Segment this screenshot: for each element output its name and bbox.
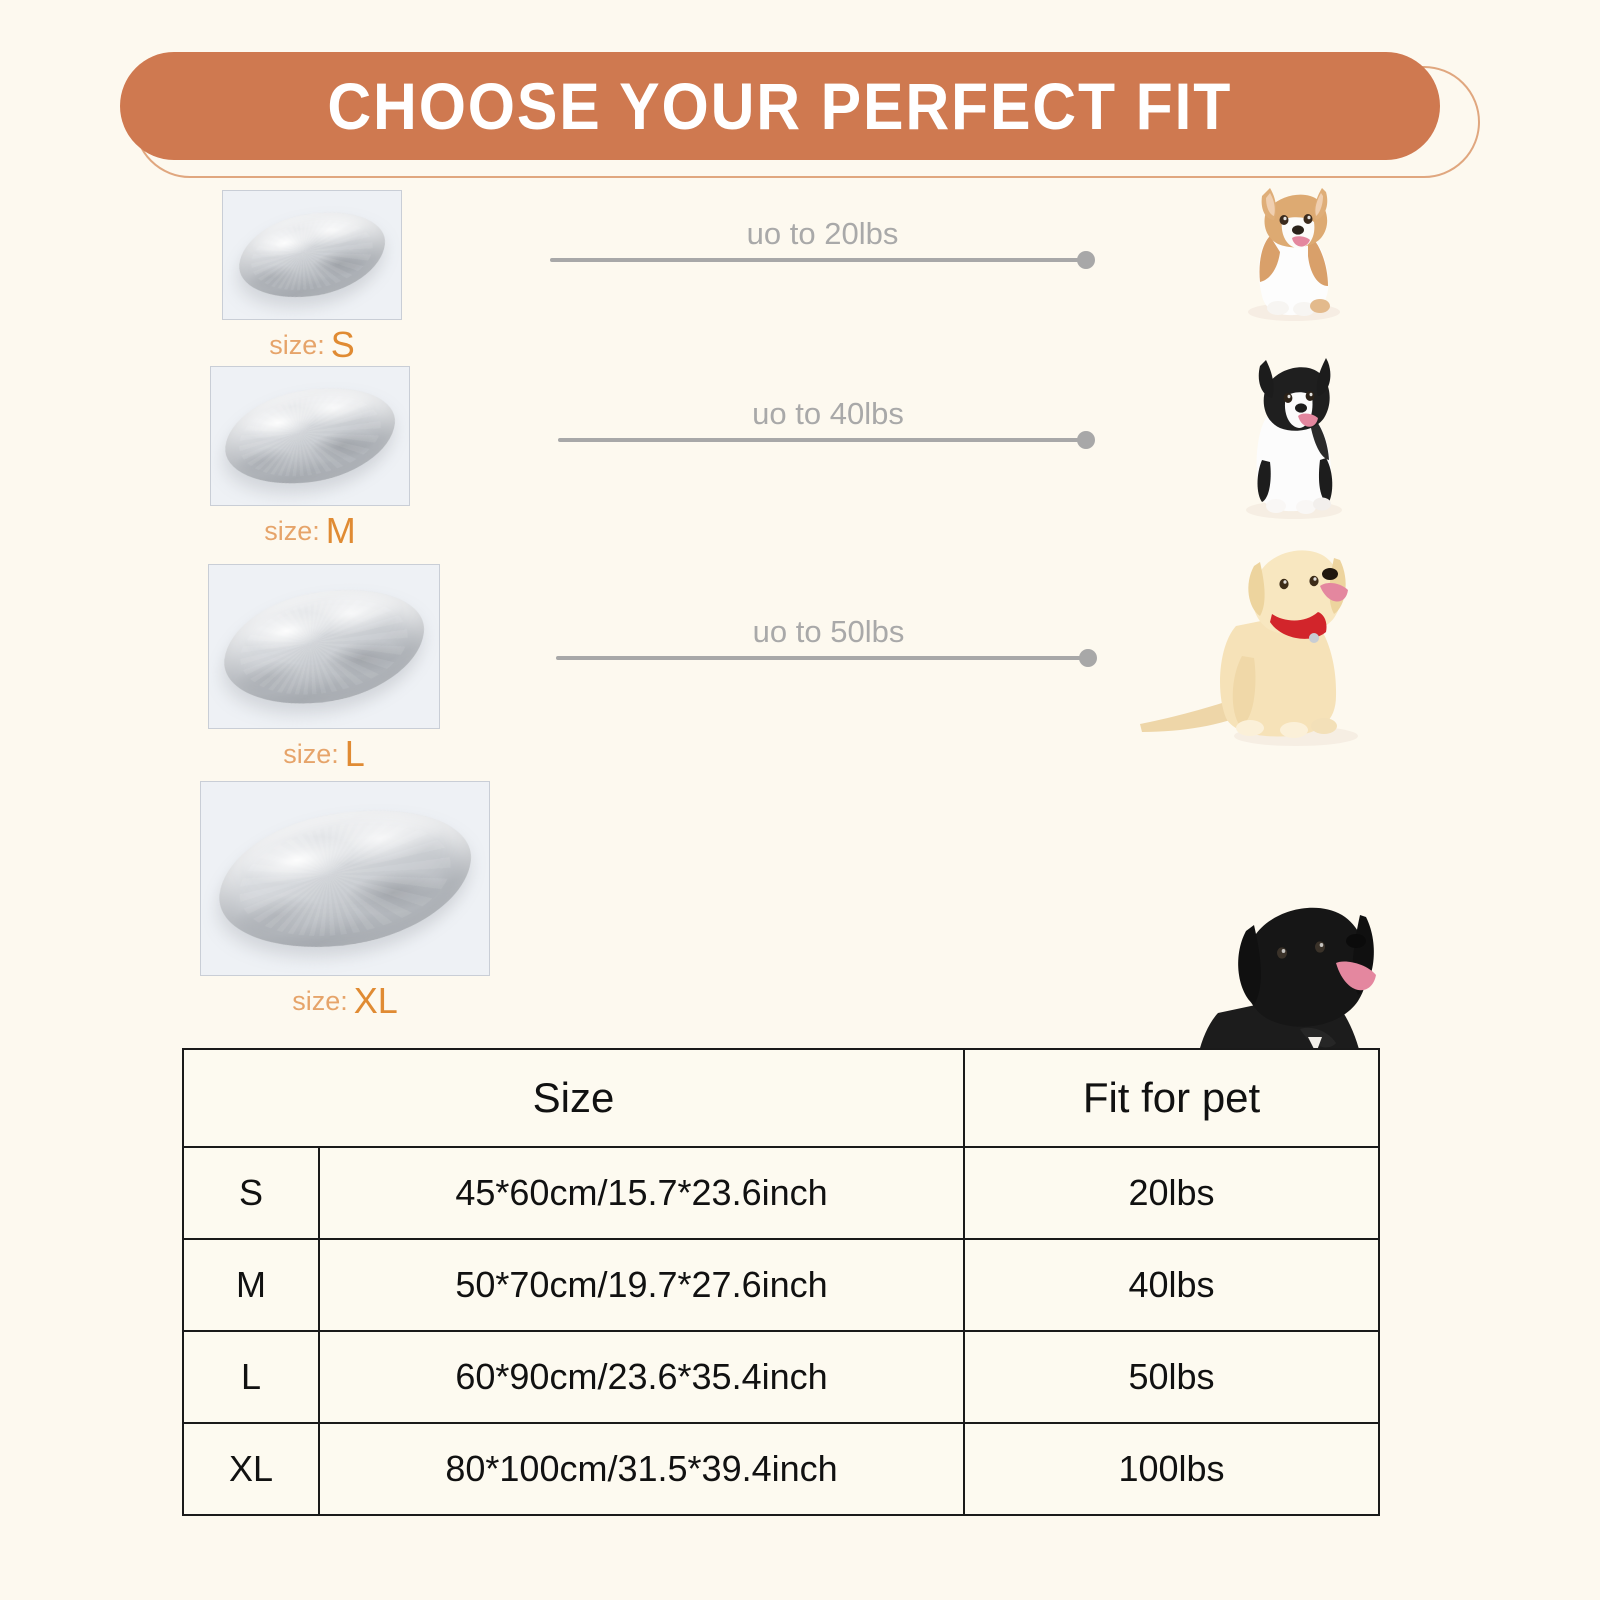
measure-line-s	[550, 258, 1084, 262]
size-comparison-rows: size:S uo to 20lbs	[0, 176, 1600, 1046]
product-image-l	[208, 564, 440, 729]
measure-line-l	[556, 656, 1086, 660]
pet-bed-illustration	[219, 580, 430, 713]
size-chart-table: Size Fit for pet S 45*60cm/15.7*23.6inch…	[182, 1048, 1380, 1516]
pet-bed-illustration	[213, 798, 478, 959]
table-cell-dimensions: 60*90cm/23.6*35.4inch	[319, 1331, 964, 1423]
product-image-s	[222, 190, 402, 320]
golden-retriever-icon	[1118, 536, 1368, 751]
table-cell-size-letter: M	[183, 1239, 319, 1331]
table-row: S 45*60cm/15.7*23.6inch 20lbs	[183, 1147, 1379, 1239]
measure-endpoint-dot-l	[1079, 649, 1097, 667]
measure-endpoint-dot-m	[1077, 431, 1095, 449]
table-header-size: Size	[183, 1049, 964, 1147]
table-row: XL 80*100cm/31.5*39.4inch 100lbs	[183, 1423, 1379, 1515]
table-cell-fit: 50lbs	[964, 1331, 1379, 1423]
table-cell-fit: 20lbs	[964, 1147, 1379, 1239]
size-label-s: size:S	[222, 324, 402, 366]
product-cell-l: size:L	[208, 564, 440, 775]
size-label-prefix: size:	[292, 986, 348, 1016]
size-label-letter: XL	[354, 980, 398, 1021]
size-label-letter: S	[331, 324, 355, 365]
size-label-prefix: size:	[269, 330, 325, 360]
dog-cell-m	[1218, 348, 1368, 523]
page-title: CHOOSE YOUR PERFECT FIT	[328, 68, 1233, 144]
border-collie-icon	[1218, 348, 1368, 523]
dog-cell-s	[1222, 176, 1362, 326]
product-cell-m: size:M	[210, 366, 410, 552]
size-label-m: size:M	[210, 510, 410, 552]
table-cell-size-letter: L	[183, 1331, 319, 1423]
product-cell-xl: size:XL	[200, 781, 490, 1022]
table-cell-dimensions: 45*60cm/15.7*23.6inch	[319, 1147, 964, 1239]
table-cell-size-letter: XL	[183, 1423, 319, 1515]
size-label-xl: size:XL	[200, 980, 490, 1022]
table-cell-fit: 100lbs	[964, 1423, 1379, 1515]
table-cell-dimensions: 80*100cm/31.5*39.4inch	[319, 1423, 964, 1515]
size-label-letter: M	[326, 510, 356, 551]
size-label-l: size:L	[208, 733, 440, 775]
size-label-prefix: size:	[264, 516, 320, 546]
corgi-icon	[1222, 176, 1362, 326]
table-header-fit: Fit for pet	[964, 1049, 1379, 1147]
size-label-letter: L	[345, 733, 365, 774]
pet-bed-illustration	[221, 380, 400, 491]
table-header-row: Size Fit for pet	[183, 1049, 1379, 1147]
size-label-prefix: size:	[283, 739, 339, 769]
measure-l: uo to 50lbs	[556, 602, 1101, 672]
weight-label-m: uo to 40lbs	[558, 396, 1098, 432]
table-cell-size-letter: S	[183, 1147, 319, 1239]
weight-label-l: uo to 50lbs	[556, 614, 1101, 650]
measure-s: uo to 20lbs	[550, 204, 1095, 274]
header-banner: CHOOSE YOUR PERFECT FIT	[120, 52, 1480, 172]
product-cell-s: size:S	[222, 190, 402, 366]
dog-cell-l	[1118, 536, 1368, 751]
weight-label-s: uo to 20lbs	[550, 216, 1095, 252]
table-cell-dimensions: 50*70cm/19.7*27.6inch	[319, 1239, 964, 1331]
product-image-m	[210, 366, 410, 506]
measure-line-m	[558, 438, 1084, 442]
measure-endpoint-dot-s	[1077, 251, 1095, 269]
table-row: M 50*70cm/19.7*27.6inch 40lbs	[183, 1239, 1379, 1331]
banner-pill: CHOOSE YOUR PERFECT FIT	[120, 52, 1440, 160]
pet-bed-illustration	[235, 206, 389, 305]
table-row: L 60*90cm/23.6*35.4inch 50lbs	[183, 1331, 1379, 1423]
measure-m: uo to 40lbs	[558, 384, 1098, 454]
product-image-xl	[200, 781, 490, 976]
table-cell-fit: 40lbs	[964, 1239, 1379, 1331]
